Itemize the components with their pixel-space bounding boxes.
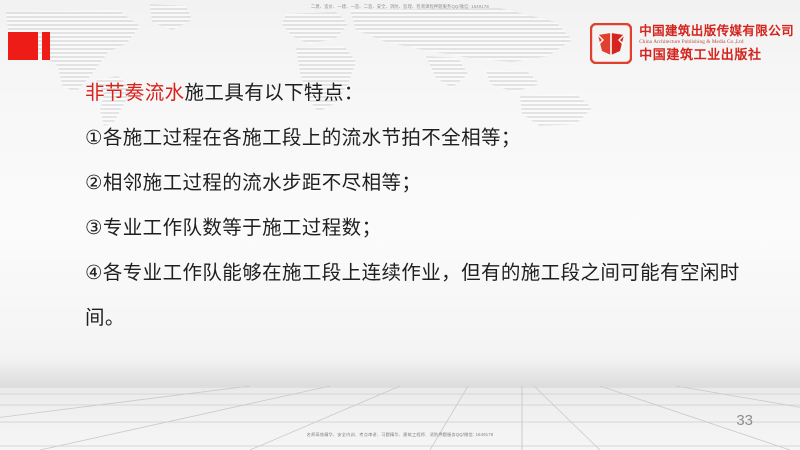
slide-body: 非节奏流水施工具有以下特点： ①各施工过程在各施工段上的流水节拍不全相等； ②相… <box>40 70 770 340</box>
red-accent-block-small <box>42 32 50 60</box>
presentation-slide: 二建、造价、一建、一造、二造、安全、消防、监理、检测课程押题服务QQ/微信: 1… <box>0 0 800 450</box>
bullet-item-1: ①各施工过程在各施工段上的流水节拍不全相等； <box>40 115 770 160</box>
page-number: 33 <box>736 412 753 429</box>
heading-highlight-text: 非节奏流水 <box>85 81 185 104</box>
bullet-item-2: ②相邻施工过程的流水步距不尽相等； <box>40 160 770 205</box>
publisher-company-name-en: China Architecture Publishing & Media Co… <box>639 40 794 45</box>
perspective-floor <box>0 386 800 450</box>
publisher-company-name-cn: 中国建筑出版传媒有限公司 <box>639 25 794 38</box>
heading-rest-text: 施工具有以下特点： <box>185 81 364 104</box>
red-accent-block-large <box>8 32 38 60</box>
publisher-logo: 中国建筑出版传媒有限公司 China Architecture Publishi… <box>590 23 794 64</box>
publisher-book-emblem-icon <box>590 23 632 64</box>
bullet-item-3: ③专业工作队数等于施工过程数； <box>40 205 770 250</box>
bullet-item-4: ④各专业工作队能够在施工段上连续作业，但有的施工段之间可能有空闲时间。 <box>40 250 770 340</box>
slide-heading: 非节奏流水施工具有以下特点： <box>40 70 770 115</box>
bullet-item-4-text: ④各专业工作队能够在施工段上连续作业，但有的施工段之间可能有空闲时间。 <box>85 261 740 329</box>
watermark-text-top: 二建、造价、一建、一造、二造、安全、消防、监理、检测课程押题服务QQ/微信: 1… <box>0 4 800 10</box>
floor-shadow <box>0 360 800 388</box>
watermark-text-bottom: 名师高效精华、安全内训、考点串讲、习题精华、建筑工程师、消防押题服务QQ/微信:… <box>0 432 800 438</box>
publisher-imprint-name-cn: 中国建筑工业出版社 <box>639 49 794 62</box>
floor-grid <box>0 386 800 450</box>
